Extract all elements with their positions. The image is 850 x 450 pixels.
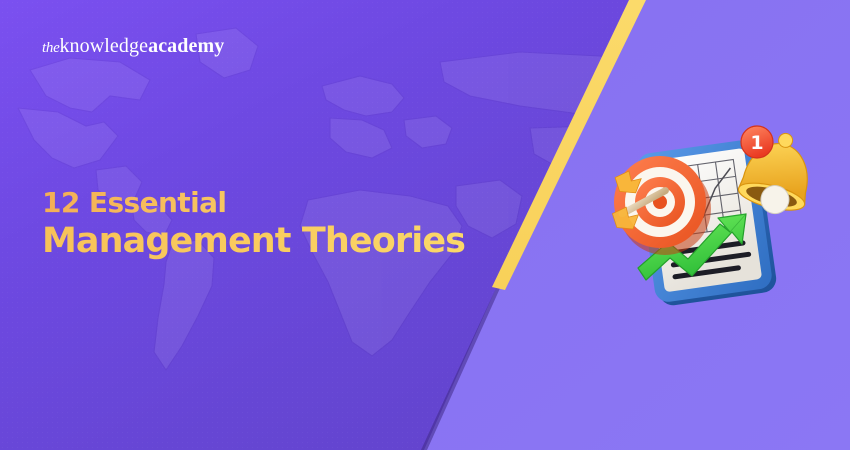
logo-word-the: the	[42, 40, 59, 56]
headline-line-2: Management Theories	[42, 220, 465, 262]
notification-badge: 1	[741, 126, 773, 158]
brand-logo[interactable]: theknowledgeacademy	[42, 36, 224, 56]
promo-banner: theknowledgeacademy 12 Essential Managem…	[0, 0, 850, 450]
logo-word-academy: academy	[148, 35, 224, 57]
headline-line-1: 12 Essential	[42, 186, 465, 220]
goal-tracking-illustration: 1	[612, 118, 827, 313]
badge-count: 1	[750, 132, 763, 154]
logo-word-knowledge: knowledge	[59, 35, 148, 57]
headline-block: 12 Essential Management Theories	[42, 186, 465, 262]
